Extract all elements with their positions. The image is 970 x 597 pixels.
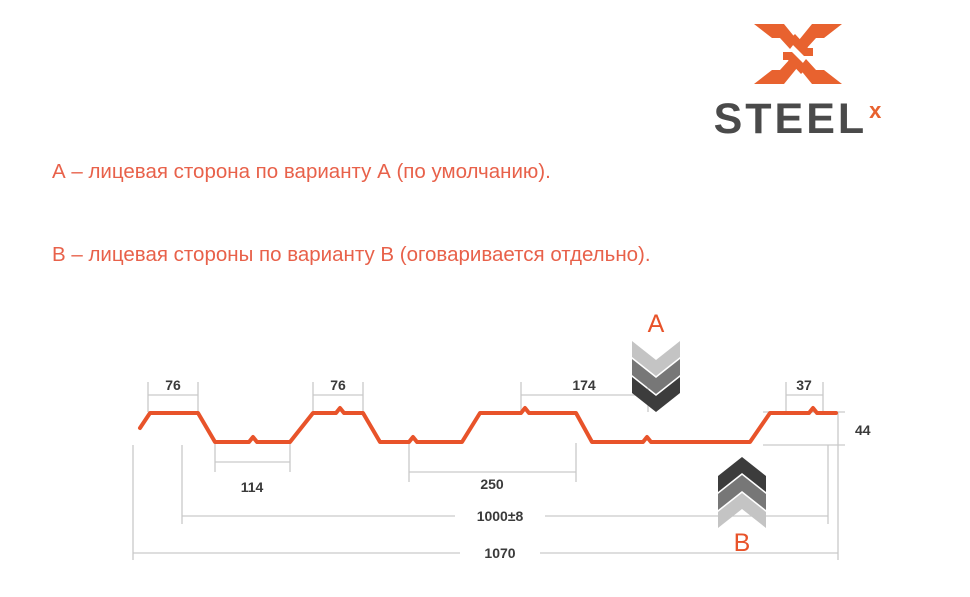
dim-label-1070: 1070 (484, 545, 515, 561)
marker-a: A (632, 310, 680, 412)
dim-label-37: 37 (796, 377, 812, 393)
dim-label-76-second: 76 (330, 377, 346, 393)
profile-technical-drawing: 76 76 114 250 174 37 44 1000±8 1070 A B (0, 0, 970, 597)
dim-label-76-left: 76 (165, 377, 181, 393)
marker-b: B (718, 457, 766, 557)
dim-label-114: 114 (241, 479, 264, 495)
dim-label-250: 250 (480, 476, 504, 492)
page-root: STEEL x А – лицевая сторона по варианту … (0, 0, 970, 597)
dim-label-44: 44 (855, 422, 871, 438)
dim-label-174: 174 (572, 377, 596, 393)
dim-label-1000: 1000±8 (477, 508, 524, 524)
marker-a-label: A (648, 310, 665, 338)
marker-b-label: B (734, 529, 751, 557)
corrugated-profile-line (140, 408, 836, 442)
